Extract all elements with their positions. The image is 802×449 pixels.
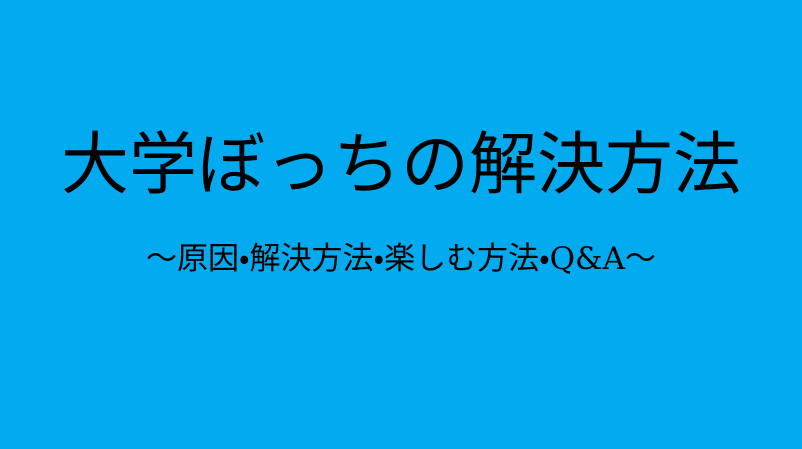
slide-text-block: 大学ぼっちの解決方法 〜原因・解決方法・楽しむ方法・Q&A〜	[0, 0, 802, 449]
page-subtitle: 〜原因・解決方法・楽しむ方法・Q&A〜	[0, 239, 802, 279]
page-title: 大学ぼっちの解決方法	[0, 126, 802, 206]
title-slide: 大学ぼっちの解決方法 〜原因・解決方法・楽しむ方法・Q&A〜	[0, 0, 802, 449]
